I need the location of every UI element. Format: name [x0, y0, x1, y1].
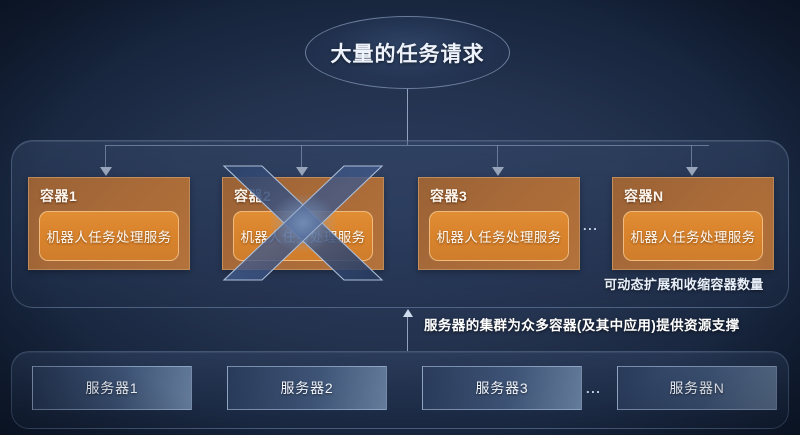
container-title-1: 容器1 — [40, 186, 77, 206]
container-box-2[interactable]: 容器2 机器人任务处理服务 — [222, 177, 384, 270]
support-line — [407, 316, 408, 351]
service-pill-1[interactable]: 机器人任务处理服务 — [39, 211, 179, 261]
container-box-n[interactable]: 容器N 机器人任务处理服务 — [612, 177, 774, 270]
scaling-caption: 可动态扩展和收缩容器数量 — [604, 274, 764, 293]
diagram-canvas: 大量的任务请求 容器1 机器人任务处理服务 容器2 机器人任务处理服务 — [0, 0, 800, 435]
server-box-2[interactable]: 服务器2 — [227, 366, 387, 410]
service-label-1: 机器人任务处理服务 — [46, 226, 171, 246]
container-title-2: 容器2 — [234, 186, 271, 206]
server-box-3[interactable]: 服务器3 — [422, 366, 582, 410]
server-label-n: 服务器N — [669, 378, 724, 398]
service-pill-n[interactable]: 机器人任务处理服务 — [623, 211, 763, 261]
arrow-up-icon — [403, 309, 413, 317]
request-node-label: 大量的任务请求 — [331, 38, 485, 68]
service-label-3: 机器人任务处理服务 — [436, 226, 561, 246]
service-pill-3[interactable]: 机器人任务处理服务 — [429, 211, 569, 261]
service-label-2: 机器人任务处理服务 — [240, 226, 365, 246]
trunk-line — [407, 89, 408, 145]
support-caption: 服务器的集群为众多容器(及其中应用)提供资源支撑 — [424, 314, 740, 334]
server-box-1[interactable]: 服务器1 — [32, 366, 192, 410]
container-title-3: 容器3 — [430, 186, 467, 206]
server-ellipsis: ... — [586, 381, 601, 396]
container-ellipsis: ... — [583, 218, 598, 233]
server-label-1: 服务器1 — [86, 378, 139, 398]
service-label-n: 机器人任务处理服务 — [630, 226, 755, 246]
container-title-n: 容器N — [624, 186, 664, 206]
server-label-3: 服务器3 — [476, 378, 529, 398]
service-pill-2[interactable]: 机器人任务处理服务 — [233, 211, 373, 261]
container-box-1[interactable]: 容器1 机器人任务处理服务 — [28, 177, 190, 270]
server-label-2: 服务器2 — [281, 378, 334, 398]
server-box-n[interactable]: 服务器N — [617, 366, 777, 410]
container-box-3[interactable]: 容器3 机器人任务处理服务 — [418, 177, 580, 270]
request-node: 大量的任务请求 — [305, 16, 510, 89]
